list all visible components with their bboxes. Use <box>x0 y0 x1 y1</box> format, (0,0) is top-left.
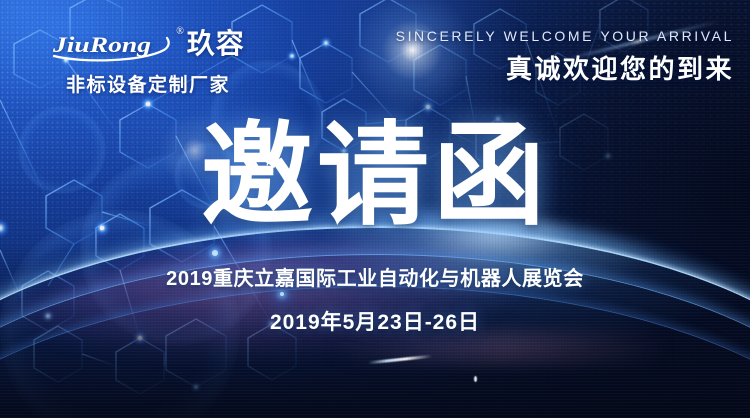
event-date: 2019年5月23日-26日 <box>0 306 750 336</box>
horizon-beam-tail <box>330 332 670 362</box>
horizon-light-dot-icon <box>474 376 477 382</box>
company-logo[interactable]: JiuRong ® 玖容 非标设备定制厂家 <box>48 24 248 97</box>
svg-text:JiuRong: JiuRong <box>52 32 151 57</box>
logo-tagline: 非标设备定制厂家 <box>48 70 248 97</box>
welcome-block: SINCERELY WELCOME YOUR ARRIVAL 真诚欢迎您的到来 <box>396 28 734 86</box>
event-name: 2019重庆立嘉国际工业自动化与机器人展览会 <box>0 262 750 291</box>
registered-trademark-icon: ® <box>176 27 184 37</box>
accent-node-left-icon <box>212 250 218 256</box>
welcome-english-text: SINCERELY WELCOME YOUR ARRIVAL <box>396 28 734 44</box>
logo-brand-chinese: 玖容 <box>187 30 245 58</box>
accent-node-center-icon <box>280 292 284 296</box>
page-title: 邀请函 <box>201 120 549 232</box>
main-title-block: 邀请函 <box>0 120 750 232</box>
invitation-poster: JiuRong ® 玖容 非标设备定制厂家 SINCERELY WELCOME … <box>0 0 750 418</box>
jiurong-wordmark-icon: JiuRong <box>51 25 173 63</box>
welcome-chinese-text: 真诚欢迎您的到来 <box>396 49 734 86</box>
logo-wordmark-row: JiuRong ® 玖容 <box>48 24 248 64</box>
